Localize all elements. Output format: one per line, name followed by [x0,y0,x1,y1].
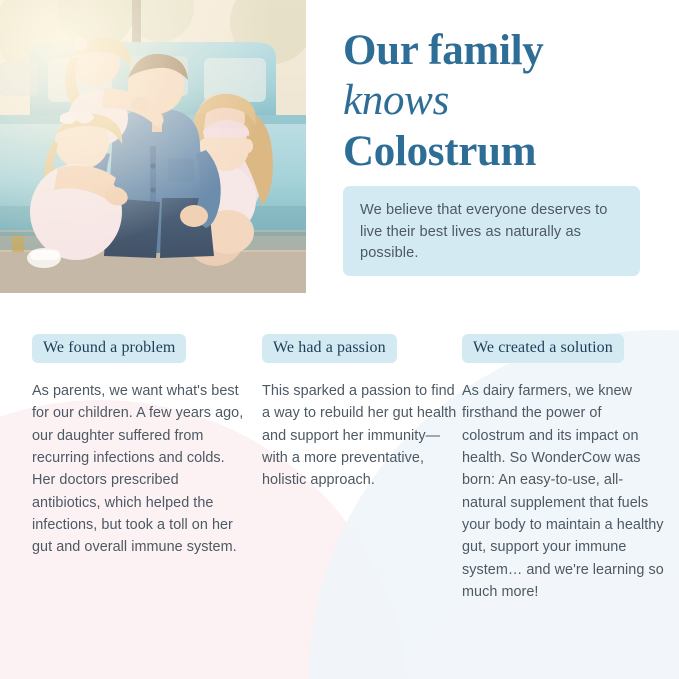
story-column-solution: We created a solution As dairy farmers, … [462,334,664,603]
headline-line-1: Our family [343,26,663,76]
hero-section: Our family knows Colostrum We believe th… [0,0,679,300]
page-root: Our family knows Colostrum We believe th… [0,0,679,679]
headline-line-3: Colostrum [343,127,663,177]
mission-statement-text: We believe that everyone deserves to liv… [360,200,623,265]
story-badge-passion: We had a passion [262,334,397,363]
story-badge-solution: We created a solution [462,334,624,363]
page-title: Our family knows Colostrum [343,26,663,177]
mission-statement-box: We believe that everyone deserves to liv… [343,186,640,276]
story-body-passion: This sparked a passion to find a way to … [262,380,462,492]
story-body-solution: As dairy farmers, we knew firsthand the … [462,380,664,603]
story-column-problem: We found a problem As parents, we want w… [32,334,244,559]
story-badge-problem: We found a problem [32,334,186,363]
story-body-problem: As parents, we want what's best for our … [32,380,244,559]
story-column-passion: We had a passion This sparked a passion … [262,334,462,492]
headline-line-2: knows [343,76,663,126]
family-photo [0,0,306,293]
story-columns: We found a problem As parents, we want w… [0,334,679,679]
